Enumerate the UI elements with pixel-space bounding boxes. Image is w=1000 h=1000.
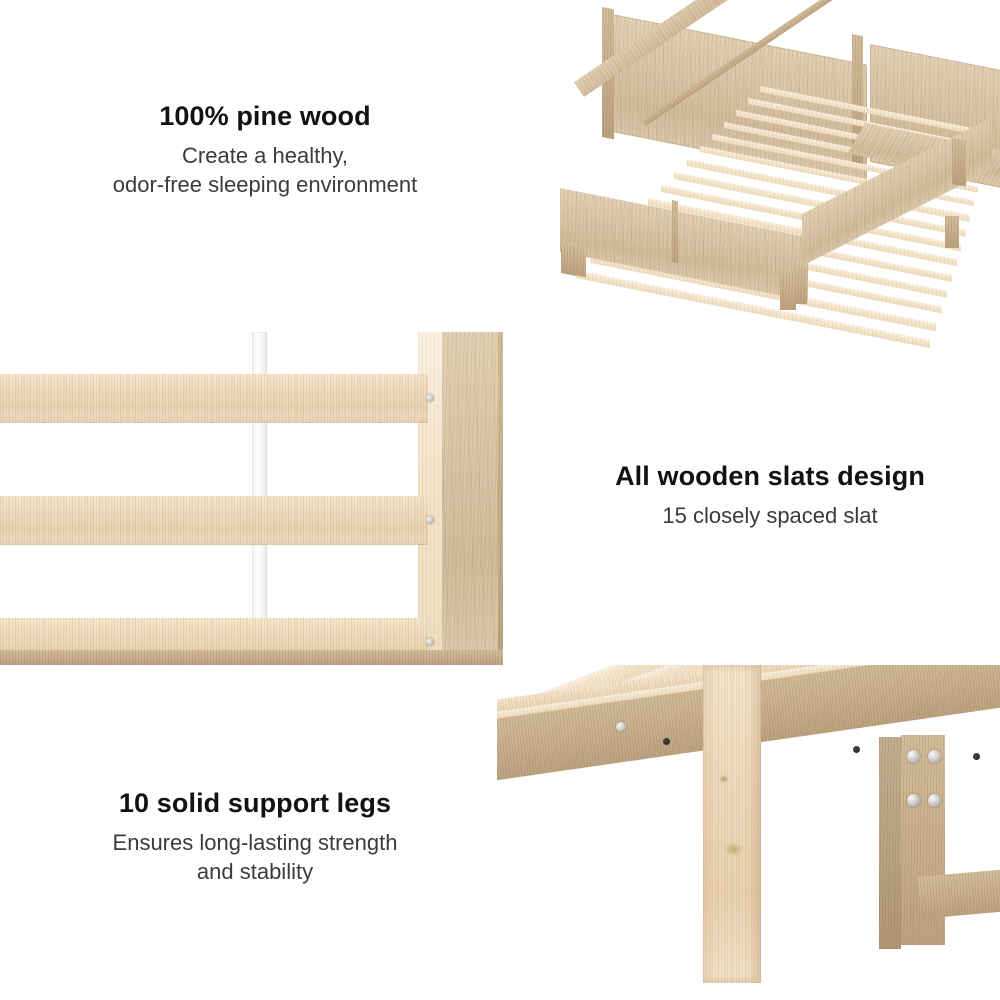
rail-nail: [973, 753, 980, 760]
rail-screw: [616, 722, 626, 732]
assembly-bolt: [928, 750, 941, 763]
cross-rail-stub: [917, 869, 1000, 919]
slat-closeup-photo: [0, 332, 503, 665]
rail-nail: [853, 746, 860, 753]
base-rail: [0, 650, 503, 665]
feature-headline-legs: 10 solid support legs: [25, 787, 485, 820]
infographic-canvas: 100% pine wood Create a healthy, odor-fr…: [0, 0, 1000, 1000]
side-rail-edge: [498, 332, 503, 662]
bed-leg: [945, 216, 959, 248]
feature-text-legs: 10 solid support legs Ensures long-lasti…: [25, 787, 485, 886]
bed-leg: [574, 247, 586, 277]
feature-subtitle-line-1: Ensures long-lasting strength: [25, 829, 485, 858]
feature-headline-slats: All wooden slats design: [590, 460, 950, 493]
side-rail-face: [440, 332, 502, 659]
slat-screw: [426, 394, 434, 402]
center-support-leg: [703, 665, 761, 983]
rail-nail: [663, 738, 670, 745]
corner-post-inner: [879, 737, 901, 949]
feature-subtitle-line-1: 15 closely spaced slat: [590, 502, 950, 531]
feature-subtitle-legs: Ensures long-lasting strength and stabil…: [25, 829, 485, 886]
pine-slat: [0, 496, 428, 544]
bed-frame-photo: [552, 0, 1000, 330]
assembly-bolt: [907, 794, 920, 807]
feature-subtitle-pine-wood: Create a healthy, odor-free sleeping env…: [40, 142, 490, 199]
slat-screw: [426, 638, 434, 646]
feature-text-slats: All wooden slats design 15 closely space…: [590, 460, 950, 531]
pine-slat: [0, 374, 428, 422]
assembly-bolt: [928, 794, 941, 807]
feature-subtitle-line-2: and stability: [25, 858, 485, 887]
feature-headline-pine-wood: 100% pine wood: [40, 100, 490, 133]
leg-wood-knot: [725, 843, 742, 856]
feature-subtitle-line-2: odor-free sleeping environment: [40, 171, 490, 200]
slat-screw: [426, 516, 434, 524]
feature-text-pine-wood: 100% pine wood Create a healthy, odor-fr…: [40, 100, 490, 199]
support-leg-photo: [497, 665, 1000, 1000]
bed-leg: [780, 272, 796, 310]
leg-wood-knot: [719, 775, 729, 783]
feature-subtitle-line-1: Create a healthy,: [40, 142, 490, 171]
bed-leg: [952, 138, 966, 187]
bed-leg: [795, 268, 807, 304]
foot-rail-divider: [672, 200, 678, 263]
assembly-bolt: [907, 750, 920, 763]
feature-subtitle-slats: 15 closely spaced slat: [590, 502, 950, 531]
